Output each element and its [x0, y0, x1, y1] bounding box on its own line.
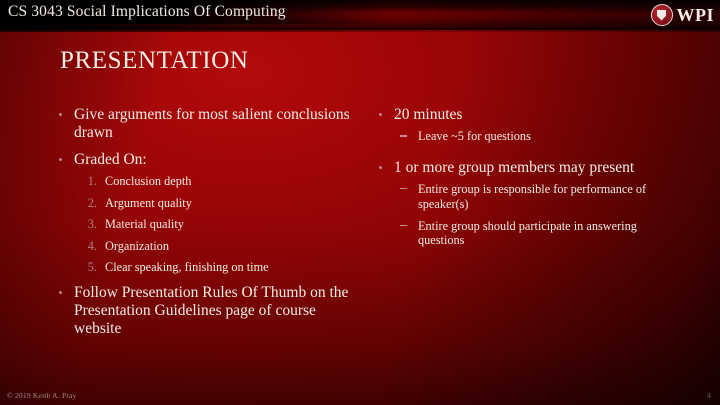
list-item-label: Argument quality [105, 196, 192, 210]
list-item: 3. Material quality [74, 217, 366, 232]
list-item: Give arguments for most salient conclusi… [56, 106, 366, 142]
bullet-dot-icon [59, 158, 62, 161]
list-number: 1. [79, 174, 97, 189]
list-item: 20 minutes Leave ~5 for questions [376, 106, 676, 144]
list-item: Follow Presentation Rules Of Thumb on th… [56, 284, 366, 338]
wpi-logo-text: WPI [677, 6, 715, 24]
right-bullet-list: 20 minutes Leave ~5 for questions 1 or m… [376, 106, 676, 248]
dash-bullet-icon [400, 135, 407, 136]
list-item-label: Conclusion depth [105, 174, 191, 188]
bullet-text: Follow Presentation Rules Of Thumb on th… [74, 284, 366, 338]
wpi-logo: WPI [651, 2, 715, 28]
list-item: 5. Clear speaking, finishing on time [74, 260, 366, 275]
bullet-dot-icon [59, 291, 62, 294]
list-item-label: Entire group is responsible for performa… [418, 182, 646, 211]
left-content-column: Give arguments for most salient conclusi… [56, 106, 366, 347]
bullet-text: Graded On: [74, 151, 366, 169]
dash-bullet-icon [400, 188, 407, 189]
list-item-label: Material quality [105, 217, 184, 231]
list-item: Entire group is responsible for performa… [394, 182, 676, 212]
bullet-dot-icon [379, 166, 382, 169]
list-number: 5. [79, 260, 97, 275]
list-item-label: Entire group should participate in answe… [418, 219, 637, 248]
duration-sub-list: Leave ~5 for questions [394, 129, 676, 144]
shield-icon [657, 10, 666, 21]
list-item: 2. Argument quality [74, 196, 366, 211]
bullet-text: 1 or more group members may present [394, 159, 676, 177]
list-item-label: Leave ~5 for questions [418, 129, 531, 143]
left-bullet-list: Give arguments for most salient conclusi… [56, 106, 366, 338]
slide-header-rule [0, 30, 720, 32]
course-title: CS 3043 Social Implications Of Computing [8, 3, 286, 21]
wpi-seal-icon [651, 4, 673, 26]
bullet-dot-icon [379, 113, 382, 116]
copyright-notice: © 2019 Keith A. Pray [7, 391, 77, 400]
list-number: 2. [79, 196, 97, 211]
bullet-dot-icon [59, 113, 62, 116]
right-content-column: 20 minutes Leave ~5 for questions 1 or m… [376, 106, 676, 257]
list-item: Graded On: 1. Conclusion depth 2. Argume… [56, 151, 366, 275]
list-item-label: Clear speaking, finishing on time [105, 260, 269, 274]
list-item: Leave ~5 for questions [394, 129, 676, 144]
graded-on-numbered-list: 1. Conclusion depth 2. Argument quality … [74, 174, 366, 275]
bullet-text: Give arguments for most salient conclusi… [74, 106, 366, 142]
page-number: 4 [707, 390, 711, 400]
presentation-slide: CS 3043 Social Implications Of Computing… [0, 0, 720, 405]
group-members-sub-list: Entire group is responsible for performa… [394, 182, 676, 248]
page-title: PRESENTATION [60, 47, 249, 75]
list-item: Entire group should participate in answe… [394, 219, 676, 249]
list-item-label: Organization [105, 239, 169, 253]
list-item: 1 or more group members may present Enti… [376, 159, 676, 248]
list-item: 1. Conclusion depth [74, 174, 366, 189]
dash-bullet-icon [400, 225, 407, 226]
bullet-text: 20 minutes [394, 106, 676, 124]
list-item: 4. Organization [74, 239, 366, 254]
list-number: 3. [79, 217, 97, 232]
list-number: 4. [79, 239, 97, 254]
